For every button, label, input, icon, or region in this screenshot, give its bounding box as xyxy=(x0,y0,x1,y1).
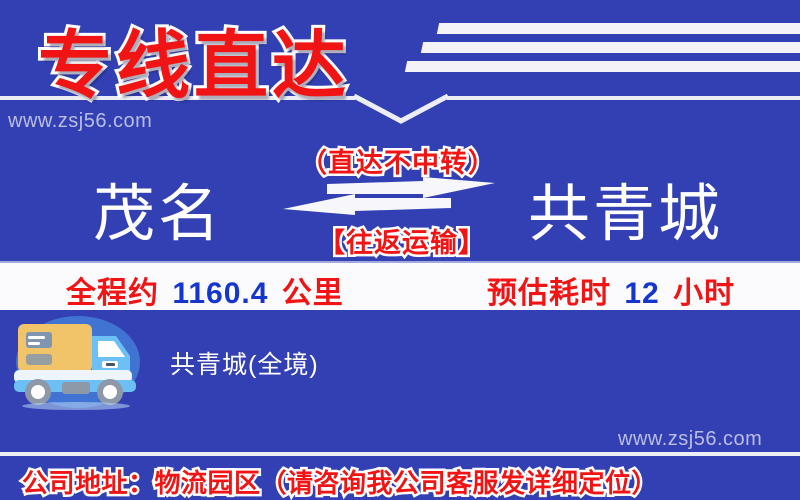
bidirectional-arrows-icon xyxy=(283,177,495,217)
footer-rule xyxy=(0,452,800,456)
diagonal-stripe-3 xyxy=(405,61,800,72)
route-info-bar: 全程约 1160.4 公里 预估耗时 12 小时 xyxy=(0,263,800,310)
distance-prefix: 全程约 xyxy=(66,277,159,310)
round-trip-badge: 【往返运输】 xyxy=(318,221,486,260)
chevron-down-icon xyxy=(352,94,450,124)
diagonal-stripe-2 xyxy=(421,42,800,53)
watermark-bottom: www.zsj56.com xyxy=(618,428,762,451)
origin-city: 茂名 xyxy=(93,163,223,253)
distance-info: 全程约 1160.4 公里 xyxy=(66,268,344,312)
distance-unit: 公里 xyxy=(282,277,344,310)
coverage-area-label: 共青城(全境) xyxy=(170,345,319,381)
delivery-truck-icon xyxy=(6,312,158,412)
company-address: 公司地址：物流园区（请咨询我公司客服发详细定位） xyxy=(22,463,658,500)
diagonal-stripe-1 xyxy=(437,23,800,34)
duration-info: 预估耗时 12 小时 xyxy=(487,268,735,312)
page-title: 专线直达 xyxy=(38,6,350,113)
destination-city: 共青城 xyxy=(528,163,723,253)
distance-value: 1160.4 xyxy=(168,277,272,310)
duration-prefix: 预估耗时 xyxy=(487,277,611,310)
duration-unit: 小时 xyxy=(673,277,735,310)
header-rule-right xyxy=(447,96,800,100)
direct-service-badge: （直达不中转） xyxy=(300,141,496,180)
duration-value: 12 xyxy=(620,277,663,310)
watermark-top: www.zsj56.com xyxy=(8,110,152,133)
logistics-route-banner: 专线直达 www.zsj56.com www.zsj56.com 茂名 共青城 … xyxy=(0,0,800,500)
